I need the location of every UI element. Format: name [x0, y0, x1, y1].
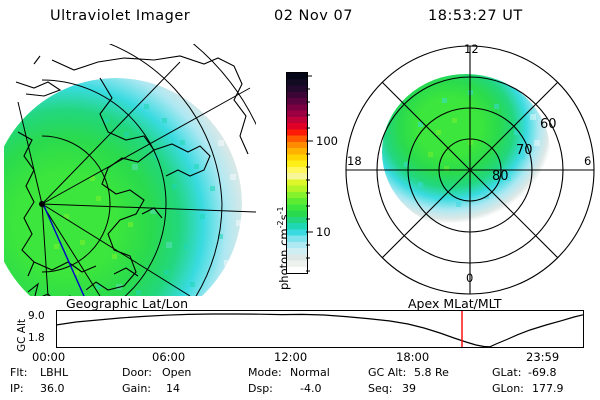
- status-flt-key: Flt:: [10, 366, 27, 379]
- status-ip-value: 36.0: [40, 382, 65, 395]
- colorbar-exp2: -1: [276, 206, 285, 214]
- header-date: 02 Nov 07: [274, 8, 353, 24]
- status-mode-value: Normal: [290, 366, 330, 379]
- mlat-mlt-svg: 60 70 80: [344, 44, 596, 296]
- colorbar-tick-label-10: 10: [316, 225, 331, 239]
- orbit-altitude-panel[interactable]: GC Alt 9.0 1.8 00:00 06:00 12:00 18:00 2…: [0, 308, 600, 360]
- status-gain-key: Gain:: [122, 382, 151, 395]
- geographic-map-panel[interactable]: [4, 44, 256, 296]
- mlat-mlt-dial-panel[interactable]: 60 70 80 12 18 6 0: [344, 44, 596, 296]
- colorbar-panel: photon cm-2s-1: [262, 44, 342, 296]
- mlat-label-70: 70: [516, 143, 533, 158]
- header-time: 18:53:27 UT: [428, 8, 523, 24]
- status-mode-key: Mode:: [248, 366, 282, 379]
- status-ip-key: IP:: [10, 382, 24, 395]
- orbit-xtick-1800: 18:00: [396, 350, 429, 364]
- orbit-altitude-trace: [56, 314, 583, 347]
- orbit-xtick-2359: 23:59: [526, 350, 559, 364]
- mlt-spokes: [346, 46, 594, 294]
- orbit-ytick-9: 9.0: [28, 310, 45, 322]
- pole-marker: [39, 201, 45, 207]
- uvi-display-root: Ultraviolet Imager 02 Nov 07 18:53:27 UT: [0, 0, 600, 400]
- status-door-key: Door:: [122, 366, 152, 379]
- mlt-label-12: 12: [464, 42, 479, 56]
- geographic-map-svg: [4, 44, 256, 296]
- mlat-label-60: 60: [540, 117, 557, 132]
- status-door-value: Open: [162, 366, 191, 379]
- status-flt-value: LBHL: [40, 366, 68, 379]
- status-bar: Flt: LBHL Door: Open Mode: Normal GC Alt…: [0, 366, 600, 400]
- status-glon-value: 177.9: [532, 382, 564, 395]
- orbit-ytick-1-8: 1.8: [28, 332, 45, 344]
- status-gcalt-key: GC Alt:: [368, 366, 406, 379]
- mlt-label-18: 18: [347, 154, 362, 168]
- mlt-label-6: 6: [584, 154, 591, 168]
- status-glon-key: GLon:: [492, 382, 524, 395]
- status-dsp-value: -4.0: [300, 382, 321, 395]
- orbit-altitude-chart: [56, 310, 584, 348]
- status-glat-value: -69.8: [528, 366, 556, 379]
- mlat-label-80: 80: [492, 169, 509, 184]
- colorbar-exp1: -2: [276, 220, 285, 228]
- status-seq-key: Seq:: [368, 382, 392, 395]
- status-dsp-key: Dsp:: [248, 382, 273, 395]
- status-gcalt-value: 5.8 Re: [414, 366, 449, 379]
- orbit-plot-frame: [57, 311, 584, 348]
- header-instrument: Ultraviolet Imager: [50, 8, 190, 24]
- orbit-xtick-1200: 12:00: [274, 350, 307, 364]
- status-gain-value: 14: [166, 382, 180, 395]
- status-glat-key: GLat:: [492, 366, 521, 379]
- colorbar-ticks: [306, 72, 316, 274]
- orbit-xtick-0000: 00:00: [32, 350, 65, 364]
- colorbar-strip[interactable]: [286, 72, 308, 274]
- mlt-label-0: 0: [466, 271, 473, 285]
- orbit-xtick-0600: 06:00: [152, 350, 185, 364]
- colorbar-tick-label-100: 100: [316, 134, 338, 148]
- status-seq-value: 39: [402, 382, 416, 395]
